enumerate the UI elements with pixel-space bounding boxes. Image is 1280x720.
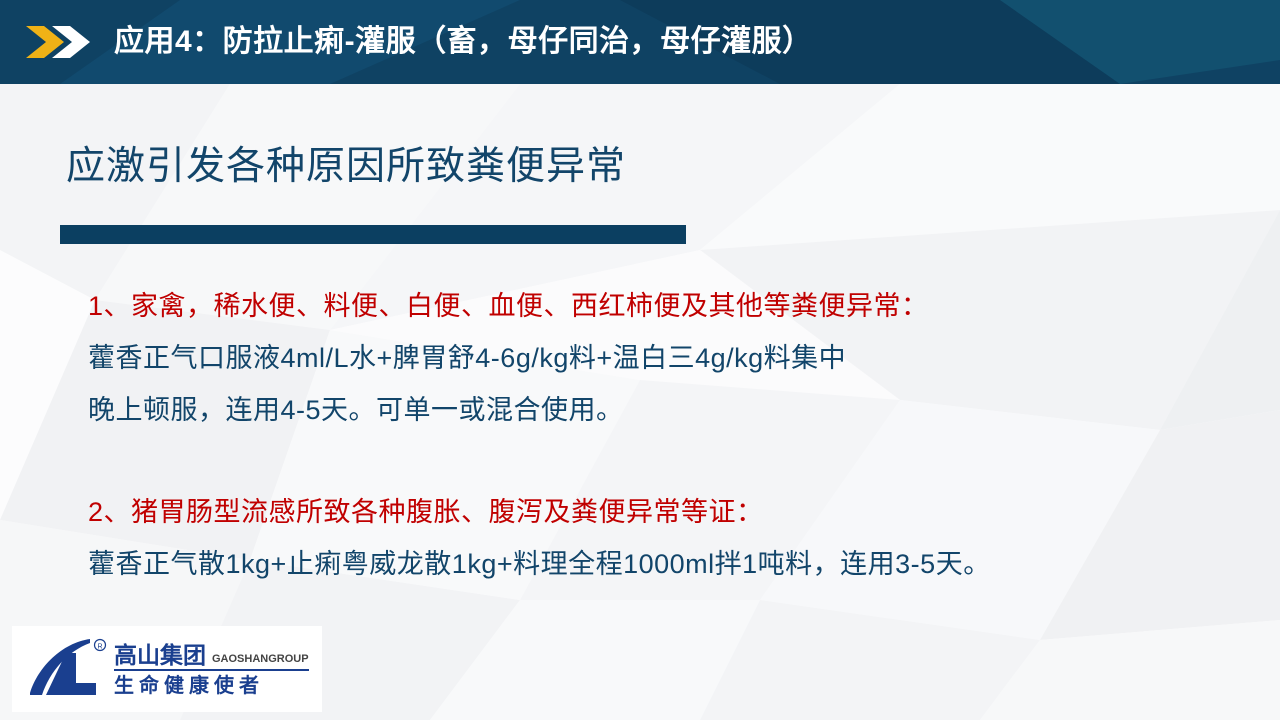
content-block-1: 1、家禽，稀水便、料便、白便、血便、西红柿便及其他等粪便异常： 藿香正气口服液4… [88, 280, 1208, 436]
company-logo: R 高山集团 GAOSHANGROUP 生命健康使者 [12, 626, 322, 712]
block-1-heading: 1、家禽，稀水便、料便、白便、血便、西红柿便及其他等粪便异常： [88, 280, 1208, 332]
slide: 应用4：防拉止痢-灌服（畜，母仔同治，母仔灌服） 应激引发各种原因所致粪便异常 … [0, 0, 1280, 720]
logo-top-row: 高山集团 GAOSHANGROUP [114, 644, 309, 671]
block-1-line-1: 藿香正气口服液4ml/L水+脾胃舒4-6g/kg料+温白三4g/kg料集中 [88, 332, 1208, 384]
content-block-2: 2、猪胃肠型流感所致各种腹胀、腹泻及粪便异常等证： 藿香正气散1kg+止痢粤威龙… [88, 486, 1208, 590]
logo-slogan: 生命健康使者 [114, 676, 309, 696]
block-2-line-1: 藿香正气散1kg+止痢粤威龙散1kg+料理全程1000ml拌1吨料，连用3-5天… [88, 538, 1208, 590]
header-title: 应用4：防拉止痢-灌服（畜，母仔同治，母仔灌服） [114, 27, 813, 57]
gaoshan-mountain-mark-icon: R [22, 633, 108, 706]
logo-company-en: GAOSHANGROUP [212, 654, 309, 667]
svg-text:R: R [97, 643, 102, 650]
logo-company-cn: 高山集团 [114, 644, 206, 667]
page-title: 应激引发各种原因所致粪便异常 [66, 145, 626, 190]
chevron-double-right-icon [24, 22, 96, 62]
logo-text-group: 高山集团 GAOSHANGROUP 生命健康使者 [114, 642, 309, 696]
block-2-heading: 2、猪胃肠型流感所致各种腹胀、腹泻及粪便异常等证： [88, 486, 1208, 538]
title-underline-bar [60, 225, 686, 244]
content-area: 1、家禽，稀水便、料便、白便、血便、西红柿便及其他等粪便异常： 藿香正气口服液4… [88, 280, 1208, 612]
logo-mark-svg: R [22, 633, 108, 701]
slide-header: 应用4：防拉止痢-灌服（畜，母仔同治，母仔灌服） [0, 0, 1280, 84]
header-chevron-icons [24, 22, 96, 62]
block-1-line-2: 晚上顿服，连用4-5天。可单一或混合使用。 [88, 384, 1208, 436]
block-spacer [88, 458, 1208, 486]
